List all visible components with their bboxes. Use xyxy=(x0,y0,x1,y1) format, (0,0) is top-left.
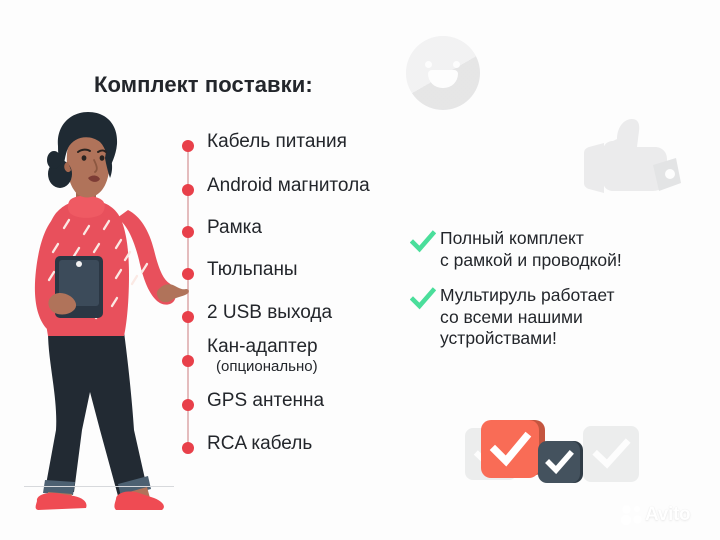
feature-highlights: Полный комплект с рамкой и проводкой! Му… xyxy=(410,228,685,364)
list-item-label: GPS антенна xyxy=(207,391,324,410)
checkbox-gray-right xyxy=(583,426,639,482)
list-item-label: Кан-адаптер xyxy=(207,337,318,356)
smiley-face-icon xyxy=(406,36,480,110)
feature-text: Мультируль работает со всеми нашими устр… xyxy=(440,285,615,350)
list-item-label: RCA кабель xyxy=(207,434,312,453)
thumbs-up-icon xyxy=(577,113,681,209)
list-item-sublabel: (опционально) xyxy=(216,359,318,374)
list-item-label: Android магнитола xyxy=(207,176,370,195)
checkbox-coral xyxy=(481,420,539,478)
list-item-label: Кабель питания xyxy=(207,132,347,151)
feature-text: Полный комплект с рамкой и проводкой! xyxy=(440,228,622,271)
check-icon xyxy=(410,286,436,312)
check-icon xyxy=(410,229,436,255)
page-title: Комплект поставки: xyxy=(94,72,313,98)
avito-logo-icon xyxy=(621,504,643,526)
feature-item: Мультируль работает со всеми нашими устр… xyxy=(410,285,685,350)
checkbox-dark xyxy=(538,441,580,483)
avito-watermark-text: Avito xyxy=(645,504,690,526)
woman-with-tablet-illustration xyxy=(12,100,192,510)
list-item-label: 2 USB выхода xyxy=(207,303,332,322)
avito-watermark: Avito xyxy=(621,503,703,527)
list-item-label: Тюльпаны xyxy=(207,260,298,279)
checkbox-group-icon xyxy=(455,403,655,493)
feature-item: Полный комплект с рамкой и проводкой! xyxy=(410,228,685,271)
promo-image-canvas: Комплект поставки: Кабель питания Androi… xyxy=(0,0,720,540)
list-item-label: Рамка xyxy=(207,218,262,237)
smiley-eye-left xyxy=(425,61,432,68)
ground-line xyxy=(24,486,174,487)
smiley-eye-right xyxy=(453,61,460,68)
